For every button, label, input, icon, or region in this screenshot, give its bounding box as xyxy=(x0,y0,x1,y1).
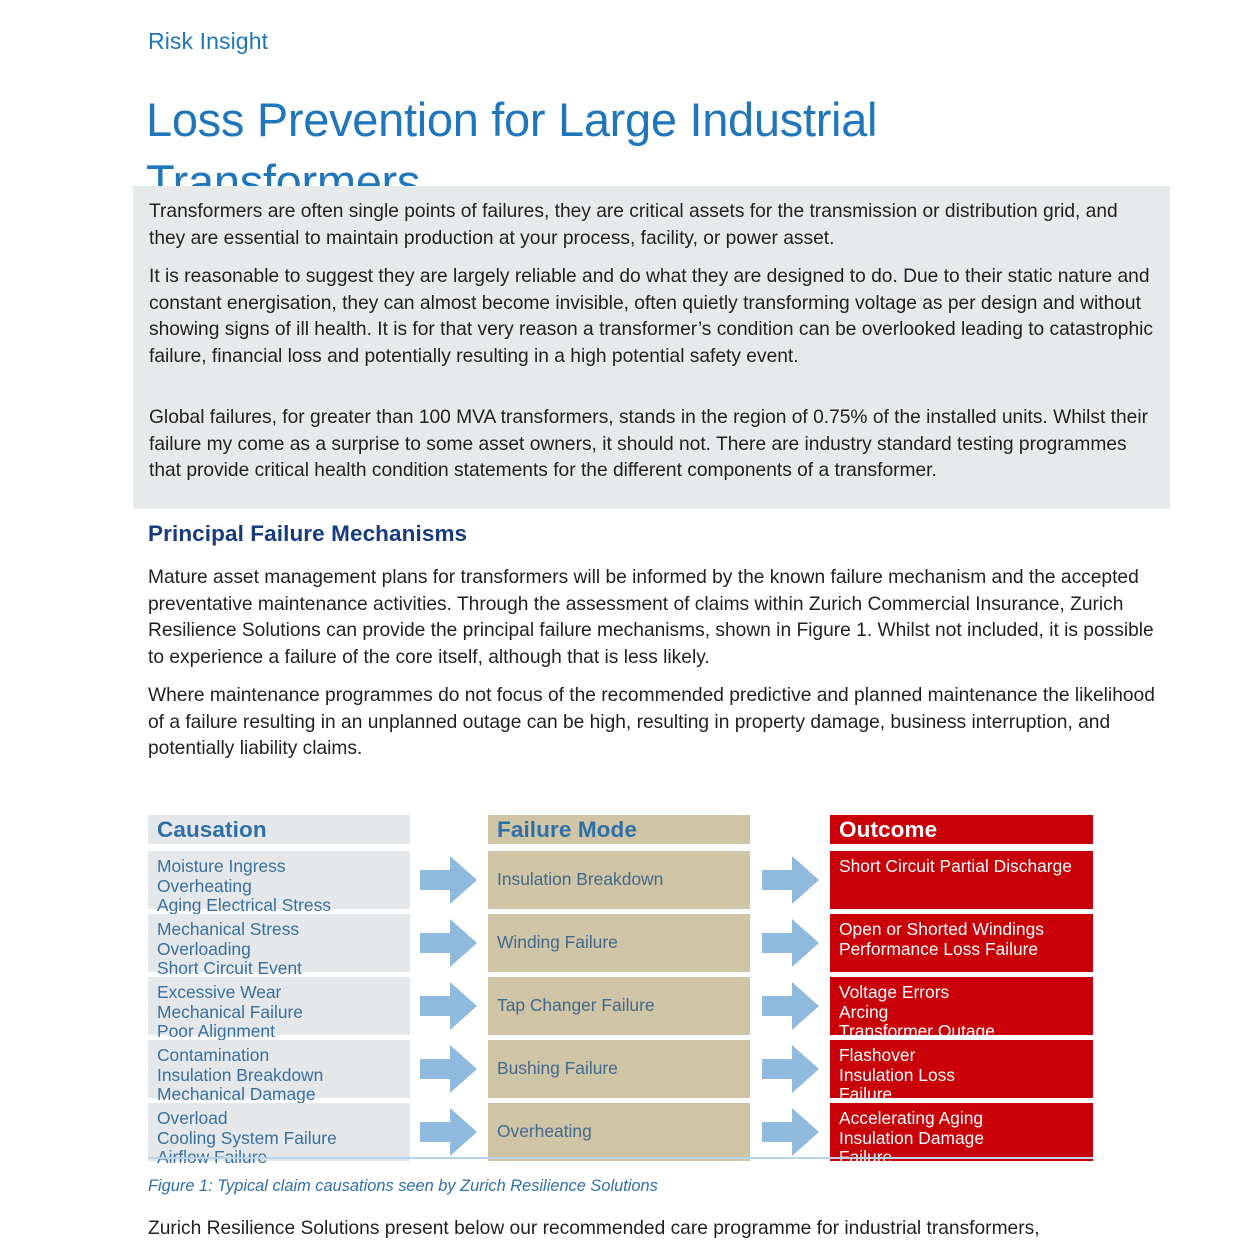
outcome-line: Transformer Outage xyxy=(839,1022,1093,1042)
causation-line: Insulation Breakdown xyxy=(157,1066,410,1086)
causation-cell-4: Overload Cooling System Failure Airflow … xyxy=(148,1103,410,1161)
section-heading: Principal Failure Mechanisms xyxy=(148,521,467,547)
outcome-cell-2: Voltage Errors Arcing Transformer Outage xyxy=(830,977,1093,1035)
causation-line: Poor Alignment xyxy=(157,1022,410,1042)
outcome-line: Accelerating Aging xyxy=(839,1109,1093,1129)
causation-line: Short Circuit Event xyxy=(157,959,410,979)
section-paragraph-2: Where maintenance programmes do not focu… xyxy=(148,683,1158,763)
column-header-outcome: Outcome xyxy=(830,815,1093,844)
outcome-line: Arcing xyxy=(839,1003,1093,1023)
failure-mechanism-diagram: Causation Moisture Ingress Overheating A… xyxy=(148,815,1093,1155)
figure-underline xyxy=(148,1157,1093,1159)
outcome-line: Insulation Loss xyxy=(839,1066,1093,1086)
outcome-line: Failure xyxy=(839,1085,1093,1105)
intro-paragraph-2: It is reasonable to suggest they are lar… xyxy=(149,264,1155,370)
document-page: Risk Insight Loss Prevention for Large I… xyxy=(0,0,1241,1241)
outcome-cell-0: Short Circuit Partial Discharge xyxy=(830,851,1093,909)
causation-line: Aging Electrical Stress xyxy=(157,896,410,916)
right-arrow-icon xyxy=(762,982,819,1030)
column-header-failure-mode: Failure Mode xyxy=(488,815,750,844)
causation-line: Mechanical Stress xyxy=(157,920,410,940)
causation-cell-2: Excessive Wear Mechanical Failure Poor A… xyxy=(148,977,410,1035)
failure-mode-cell-0: Insulation Breakdown xyxy=(488,851,750,909)
causation-cell-3: Contamination Insulation Breakdown Mecha… xyxy=(148,1040,410,1098)
diagram-column-outcome: Outcome Short Circuit Partial Discharge … xyxy=(830,815,1093,1155)
right-arrow-icon xyxy=(420,919,477,967)
trailing-paragraph: Zurich Resilience Solutions present belo… xyxy=(148,1216,1158,1243)
right-arrow-icon xyxy=(762,1108,819,1156)
causation-cell-0: Moisture Ingress Overheating Aging Elect… xyxy=(148,851,410,909)
outcome-line: Short Circuit Partial Discharge xyxy=(839,857,1093,877)
outcome-cell-1: Open or Shorted Windings Performance Los… xyxy=(830,914,1093,972)
causation-line: Contamination xyxy=(157,1046,410,1066)
diagram-column-failure-mode: Failure Mode Insulation Breakdown Windin… xyxy=(488,815,750,1155)
outcome-cell-4: Accelerating Aging Insulation Damage Fai… xyxy=(830,1103,1093,1161)
causation-line: Excessive Wear xyxy=(157,983,410,1003)
right-arrow-icon xyxy=(420,1045,477,1093)
outcome-line: Open or Shorted Windings xyxy=(839,920,1093,940)
section-paragraph-1: Mature asset management plans for transf… xyxy=(148,565,1158,671)
causation-line: Mechanical Damage xyxy=(157,1085,410,1105)
diagram-column-causation: Causation Moisture Ingress Overheating A… xyxy=(148,815,410,1155)
figure-caption: Figure 1: Typical claim causations seen … xyxy=(148,1177,658,1196)
failure-mode-cell-3: Bushing Failure xyxy=(488,1040,750,1098)
arrow-group-failure-to-outcome xyxy=(762,815,822,1155)
right-arrow-icon xyxy=(762,1045,819,1093)
outcome-line: Flashover xyxy=(839,1046,1093,1066)
causation-line: Overheating xyxy=(157,877,410,897)
causation-line: Moisture Ingress xyxy=(157,857,410,877)
eyebrow-label: Risk Insight xyxy=(148,28,268,56)
intro-paragraph-3: Global failures, for greater than 100 MV… xyxy=(149,405,1155,485)
causation-line: Overloading xyxy=(157,940,410,960)
right-arrow-icon xyxy=(762,919,819,967)
outcome-cell-3: Flashover Insulation Loss Failure xyxy=(830,1040,1093,1098)
column-header-causation: Causation xyxy=(148,815,410,844)
causation-line: Cooling System Failure xyxy=(157,1129,410,1149)
failure-mode-cell-2: Tap Changer Failure xyxy=(488,977,750,1035)
intro-panel: Transformers are often single points of … xyxy=(133,186,1170,509)
causation-cell-1: Mechanical Stress Overloading Short Circ… xyxy=(148,914,410,972)
failure-mode-cell-4: Overheating xyxy=(488,1103,750,1161)
right-arrow-icon xyxy=(420,1108,477,1156)
intro-paragraph-1: Transformers are often single points of … xyxy=(149,199,1155,252)
arrow-group-causation-to-failure xyxy=(420,815,480,1155)
right-arrow-icon xyxy=(420,856,477,904)
causation-line: Overload xyxy=(157,1109,410,1129)
outcome-line: Voltage Errors xyxy=(839,983,1093,1003)
causation-line: Mechanical Failure xyxy=(157,1003,410,1023)
outcome-line: Performance Loss Failure xyxy=(839,940,1093,960)
right-arrow-icon xyxy=(420,982,477,1030)
failure-mode-cell-1: Winding Failure xyxy=(488,914,750,972)
right-arrow-icon xyxy=(762,856,819,904)
outcome-line: Insulation Damage xyxy=(839,1129,1093,1149)
